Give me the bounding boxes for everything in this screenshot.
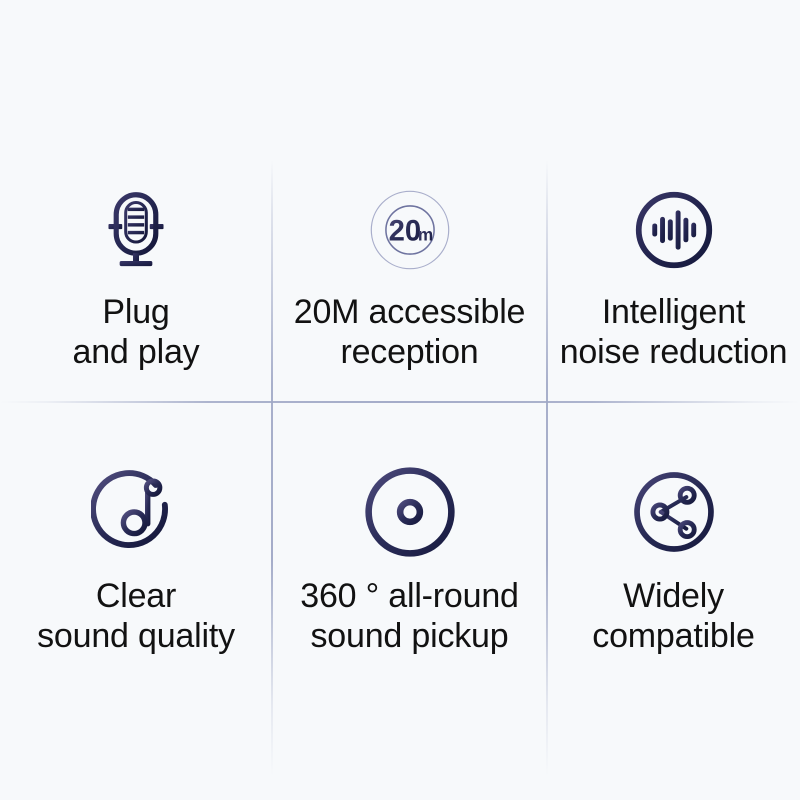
feature-caption: Clear sound quality (37, 576, 235, 656)
music-note-circle-icon (84, 460, 188, 564)
microphone-icon (88, 182, 184, 278)
spoked-wheel-360-icon (358, 460, 462, 564)
feature-caption: 20M accessible reception (294, 292, 526, 372)
feature-cell-widely-compatible: Widely compatible (547, 402, 800, 800)
feature-caption: Plug and play (73, 292, 200, 372)
feature-cell-20m-reception: 20 m 20M accessible reception (272, 0, 547, 402)
feature-cell-noise-reduction: Intelligent noise reduction (547, 0, 800, 402)
badge-unit: m (417, 224, 432, 244)
feature-cell-plug-and-play: Plug and play (0, 0, 272, 402)
feature-grid: Plug and play (0, 0, 800, 800)
distance-badge-20m-icon: 20 m (362, 182, 458, 278)
feature-caption: 360 ° all-round sound pickup (300, 576, 519, 656)
feature-cell-clear-sound: Clear sound quality (0, 402, 272, 800)
feature-caption: Widely compatible (592, 576, 754, 656)
sound-wave-circle-icon (626, 182, 722, 278)
badge-value: 20 (388, 215, 421, 247)
share-network-circle-icon (622, 460, 726, 564)
feature-caption: Intelligent noise reduction (560, 292, 788, 372)
feature-cell-360-pickup: 360 ° all-round sound pickup (272, 402, 547, 800)
